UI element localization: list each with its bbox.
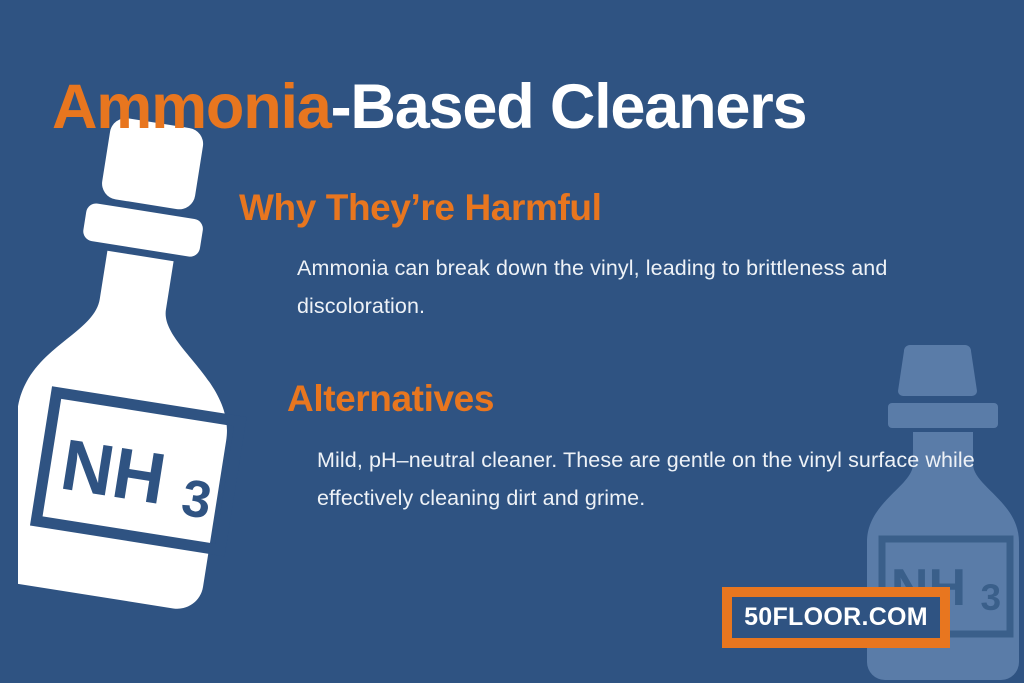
section-body-alternatives: Mild, pH–neutral cleaner. These are gent…: [317, 441, 977, 518]
infographic-poster: NH 3 NH 3 Ammonia-Based Cleaners Why The…: [0, 0, 1024, 683]
page-title-plain: -Based Cleaners: [331, 72, 807, 142]
page-title-accent: Ammonia: [52, 72, 331, 142]
section-heading-alternatives: Alternatives: [287, 380, 494, 417]
section-body-why-theyre-harmful: Ammonia can break down the vinyl, leadin…: [297, 249, 967, 326]
main-bottle-neck-ring: [82, 202, 204, 258]
background-bottle-neck-ring: [888, 403, 998, 428]
section-heading-why-theyre-harmful: Why They’re Harmful: [239, 189, 601, 226]
background-bottle-cap: [898, 345, 977, 396]
logo-badge[interactable]: 50FLOOR.COM: [722, 587, 950, 648]
page-title: Ammonia-Based Cleaners: [52, 76, 806, 139]
logo-badge-text: 50FLOOR.COM: [744, 605, 928, 630]
